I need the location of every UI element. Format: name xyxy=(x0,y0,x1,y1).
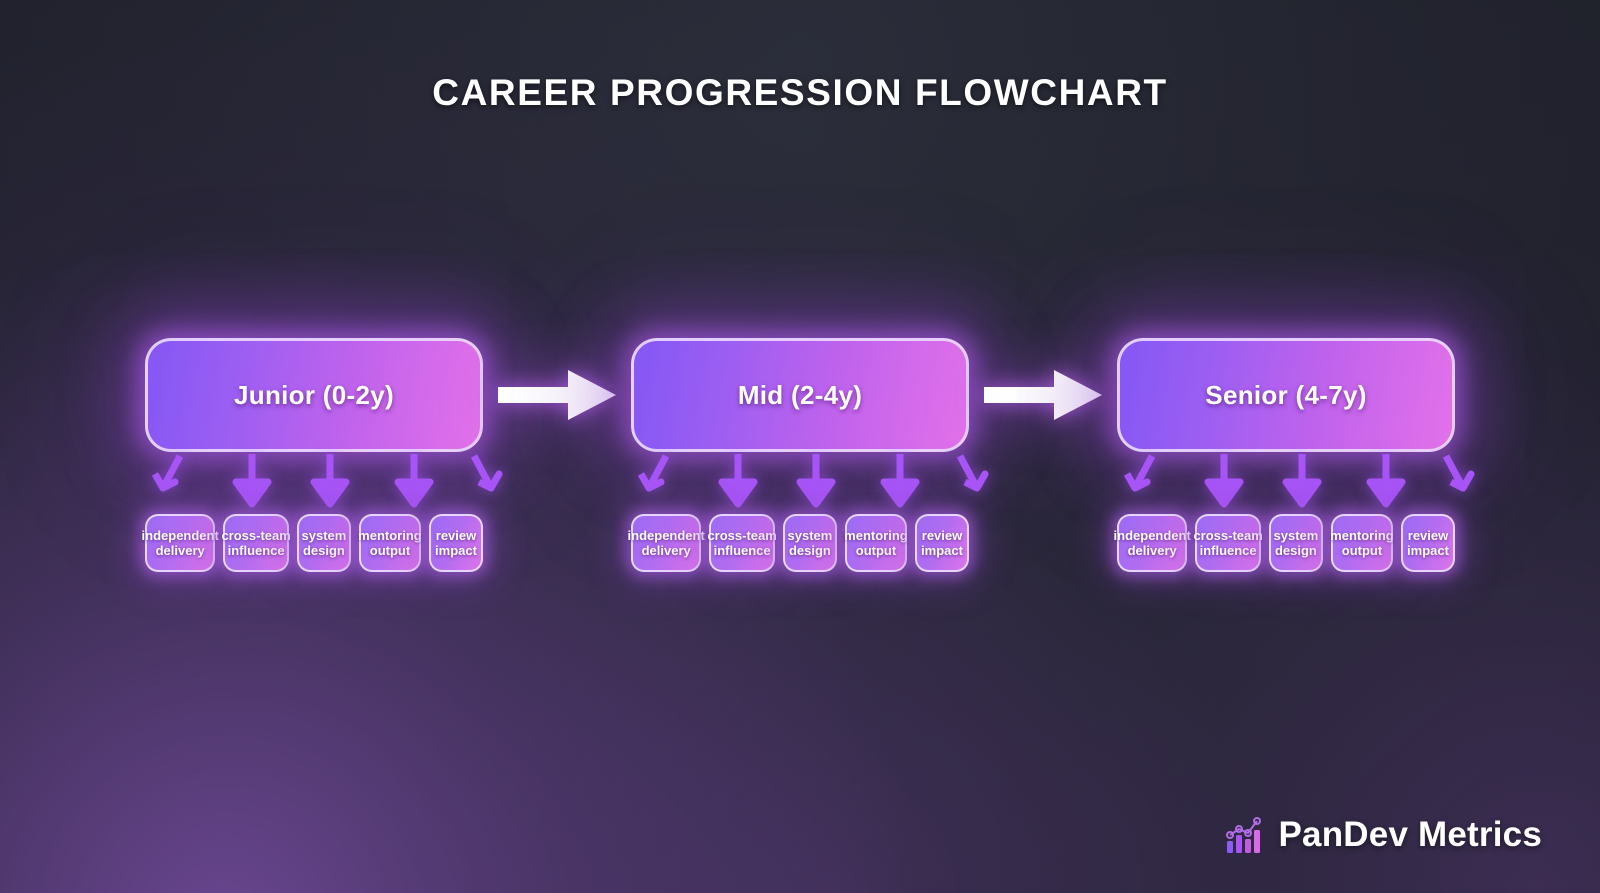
sub-chip-system-design[interactable]: system design xyxy=(783,514,837,572)
sub-chip-mentoring-output[interactable]: mentoring output xyxy=(1331,514,1393,572)
stage-node-senior[interactable]: Senior (4-7y) xyxy=(1117,338,1455,452)
sub-chip-line1: cross-team xyxy=(221,528,290,543)
connector-group-0 xyxy=(145,452,483,512)
down-arrow-icon xyxy=(392,452,436,510)
sub-chip-line2: design xyxy=(1275,543,1317,558)
sub-group-mid: independent delivery cross-team influenc… xyxy=(631,514,969,572)
sub-chip-line2: delivery xyxy=(156,543,205,558)
down-arrow-icon xyxy=(308,452,352,510)
sub-chip-line2: output xyxy=(370,543,410,558)
stage-column-0: Junior (0-2y) xyxy=(145,338,483,452)
sub-chip-line2: design xyxy=(789,543,831,558)
sub-chip-line1: review xyxy=(436,528,476,543)
sub-chip-line1: mentoring xyxy=(844,528,908,543)
sub-item-row: independent delivery cross-team influenc… xyxy=(0,512,1600,574)
sub-chip-line1: cross-team xyxy=(707,528,776,543)
down-arrow-icon xyxy=(1280,452,1324,510)
sub-chip-line1: independent xyxy=(1114,528,1191,543)
sub-chip-line1: independent xyxy=(628,528,705,543)
sub-chip-line1: cross-team xyxy=(1193,528,1262,543)
flowchart-canvas: CAREER PROGRESSION FLOWCHART Junior (0-2… xyxy=(0,0,1600,893)
sub-chip-line2: design xyxy=(303,543,345,558)
down-arrow-icon xyxy=(1364,452,1408,510)
down-arrow-icon xyxy=(1202,452,1246,510)
down-arrow-icon xyxy=(147,452,191,510)
sub-chip-line2: impact xyxy=(1407,543,1449,558)
transition-gap-0 xyxy=(483,368,631,422)
down-arrow-icon xyxy=(794,452,838,510)
bar-chart-line-icon xyxy=(1225,815,1265,855)
down-arrow-icon xyxy=(716,452,760,510)
stage-column-1: Mid (2-4y) xyxy=(631,338,969,452)
sub-chip-independent-delivery[interactable]: independent delivery xyxy=(145,514,215,572)
sub-chip-line2: output xyxy=(856,543,896,558)
page-title: CAREER PROGRESSION FLOWCHART xyxy=(0,72,1600,114)
sub-chip-line2: influence xyxy=(228,543,285,558)
sub-chip-independent-delivery[interactable]: independent delivery xyxy=(631,514,701,572)
sub-chip-line1: review xyxy=(922,528,962,543)
sub-chip-mentoring-output[interactable]: mentoring output xyxy=(845,514,907,572)
sub-chip-line2: impact xyxy=(435,543,477,558)
sub-chip-review-impact[interactable]: review impact xyxy=(1401,514,1455,572)
down-arrow-icon xyxy=(633,452,677,510)
sub-chip-line1: review xyxy=(1408,528,1448,543)
connector-row xyxy=(0,452,1600,512)
sub-chip-line2: impact xyxy=(921,543,963,558)
down-arrow-icon xyxy=(230,452,274,510)
stage-column-2: Senior (4-7y) xyxy=(1117,338,1455,452)
down-arrow-icon xyxy=(949,452,993,510)
sub-chip-line2: delivery xyxy=(1128,543,1177,558)
right-arrow-icon xyxy=(984,368,1102,422)
sub-chip-line2: influence xyxy=(714,543,771,558)
sub-chip-line1: system xyxy=(302,528,347,543)
sub-chip-mentoring-output[interactable]: mentoring output xyxy=(359,514,421,572)
brand-name: PanDev Metrics xyxy=(1279,815,1542,855)
sub-chip-system-design[interactable]: system design xyxy=(1269,514,1323,572)
sub-chip-cross-team-influence[interactable]: cross-team influence xyxy=(709,514,775,572)
brand-logo: PanDev Metrics xyxy=(1225,815,1542,855)
sub-chip-cross-team-influence[interactable]: cross-team influence xyxy=(223,514,289,572)
sub-chip-line2: output xyxy=(1342,543,1382,558)
sub-chip-cross-team-influence[interactable]: cross-team influence xyxy=(1195,514,1261,572)
down-arrow-icon xyxy=(463,452,507,510)
sub-chip-line1: mentoring xyxy=(1330,528,1394,543)
sub-chip-line2: influence xyxy=(1200,543,1257,558)
sub-chip-system-design[interactable]: system design xyxy=(297,514,351,572)
stage-node-mid[interactable]: Mid (2-4y) xyxy=(631,338,969,452)
sub-chip-line1: system xyxy=(788,528,833,543)
sub-chip-independent-delivery[interactable]: independent delivery xyxy=(1117,514,1187,572)
sub-chip-line1: system xyxy=(1274,528,1319,543)
sub-chip-review-impact[interactable]: review impact xyxy=(915,514,969,572)
down-arrow-icon xyxy=(878,452,922,510)
sub-chip-line1: mentoring xyxy=(358,528,422,543)
connector-group-1 xyxy=(631,452,969,512)
down-arrow-icon xyxy=(1119,452,1163,510)
sub-chip-line1: independent xyxy=(142,528,219,543)
right-arrow-icon xyxy=(498,368,616,422)
stage-node-junior[interactable]: Junior (0-2y) xyxy=(145,338,483,452)
sub-chip-review-impact[interactable]: review impact xyxy=(429,514,483,572)
down-arrow-icon xyxy=(1435,452,1479,510)
sub-group-junior: independent delivery cross-team influenc… xyxy=(145,514,483,572)
stage-row: Junior (0-2y) Mid (2-4y) Senior (4-7y) xyxy=(0,330,1600,460)
transition-gap-1 xyxy=(969,368,1117,422)
sub-group-senior: independent delivery cross-team influenc… xyxy=(1117,514,1455,572)
sub-chip-line2: delivery xyxy=(642,543,691,558)
connector-group-2 xyxy=(1117,452,1455,512)
